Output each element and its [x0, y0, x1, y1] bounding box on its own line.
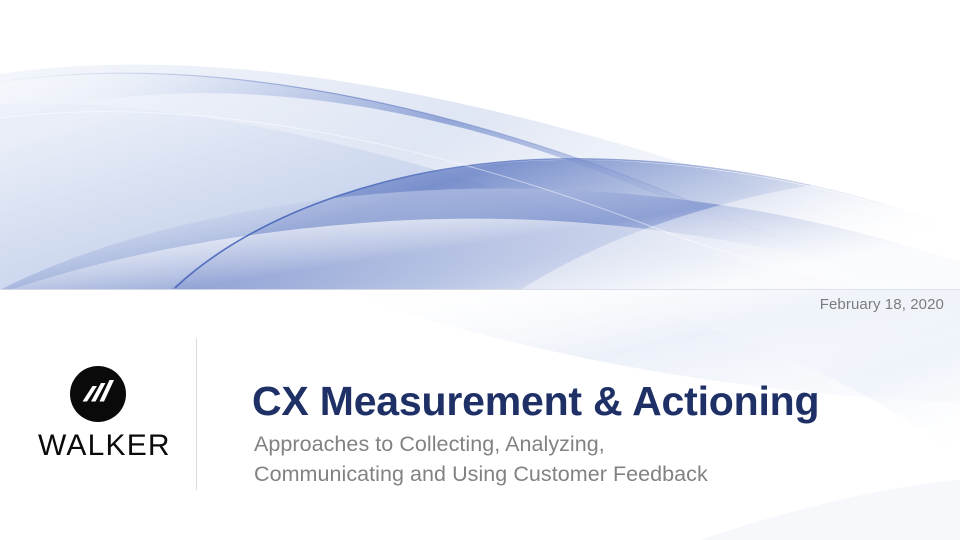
lower-wave-band-3 — [700, 480, 960, 540]
title-slide: February 18, 2020 WALKER CX Measurement … — [0, 0, 960, 540]
walker-circle-logo-icon — [70, 366, 126, 422]
banner-separator-rule — [0, 289, 960, 290]
slide-date: February 18, 2020 — [820, 296, 944, 313]
wave-banner-graphic — [0, 0, 960, 290]
slide-title: CX Measurement & Actioning — [252, 379, 819, 423]
slide-subtitle: Approaches to Collecting, Analyzing, Com… — [254, 429, 874, 489]
slide-subtitle-line-2: Communicating and Using Customer Feedbac… — [254, 459, 874, 489]
walker-logo: WALKER — [38, 366, 158, 461]
logo-title-divider — [196, 338, 197, 490]
wave-banner-svg — [0, 0, 960, 290]
walker-wordmark: WALKER — [38, 431, 158, 461]
slide-subtitle-line-1: Approaches to Collecting, Analyzing, — [254, 429, 874, 459]
